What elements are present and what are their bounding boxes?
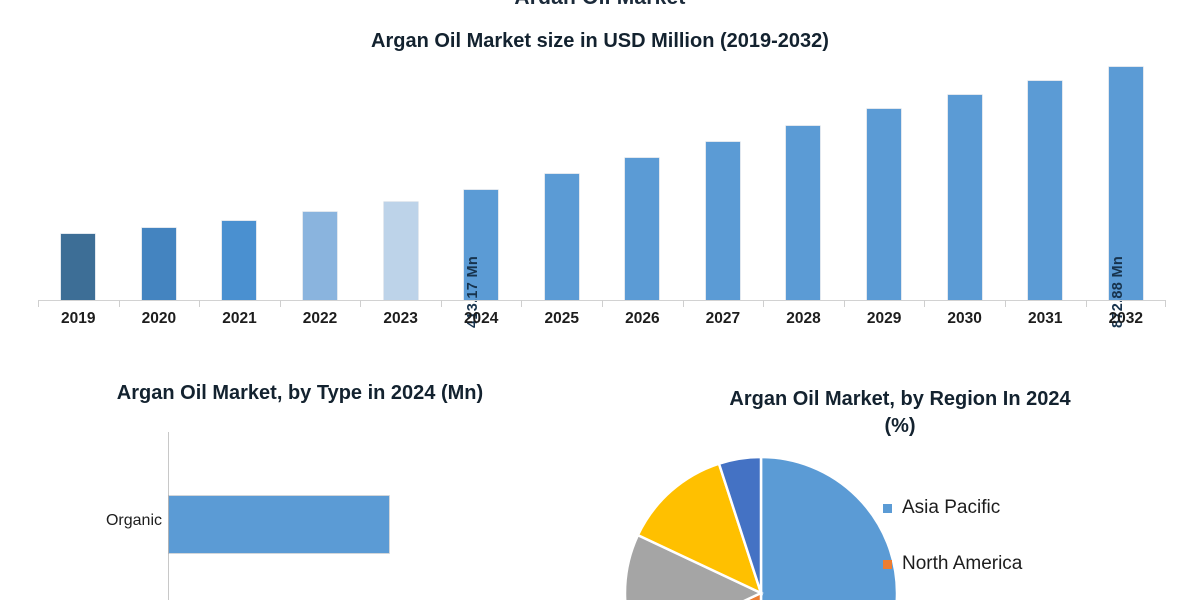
bar-slot: 413.17 Mn [441,54,522,300]
tick-2020 [119,300,200,307]
bar-slot [763,54,844,300]
x-axis-label-2026: 2026 [602,310,683,328]
bar-2024: 413.17 Mn [464,190,498,300]
bar-slot [360,54,441,300]
x-axis-label-2027: 2027 [683,310,764,328]
tick-2030 [924,300,1005,307]
main-chart-x-axis-labels: 2019202020212022202320242025202620272028… [38,310,1166,328]
bar-slot [683,54,764,300]
market-report-infographic: Argan Oil Market Argan Oil Market size i… [0,0,1200,600]
bar-2023 [384,202,418,300]
bar-2027 [706,142,740,300]
tick-2024 [441,300,522,307]
region-chart-title: Argan Oil Market, by Region In 2024 (%) [600,386,1200,440]
bar-2032: 872.88 Mn [1109,67,1143,300]
x-axis-label-2024: 2024 [441,310,522,328]
tick-2025 [521,300,602,307]
legend-swatch-icon [883,560,892,569]
bar-2029 [867,109,901,300]
type-chart-category-label: Organic [62,512,162,530]
x-axis-label-2021: 2021 [199,310,280,328]
bar-slot [199,54,280,300]
bar-slot: 872.88 Mn [1086,54,1167,300]
region-chart-title-line1: Argan Oil Market, by Region In 2024 [729,388,1070,410]
tick-2022 [280,300,361,307]
region-pie-chart [616,448,906,600]
bar-2031 [1028,81,1062,300]
x-axis-label-2022: 2022 [280,310,361,328]
type-chart-bar-organic [169,496,389,553]
bar-slot [38,54,119,300]
tick-2021 [199,300,280,307]
bar-2020 [142,228,176,300]
legend-item-north-america[interactable]: North America [883,536,1183,592]
bar-slot [119,54,200,300]
clipped-banner-title: Argan Oil Market [0,0,1200,4]
x-axis-label-2028: 2028 [763,310,844,328]
pie-slice-asia-pacific [761,457,897,600]
legend-label: North America [902,553,1022,575]
bar-slot [602,54,683,300]
bar-2021 [222,221,256,300]
region-pie-container [600,448,920,600]
type-chart-plot-area: Organic [0,422,600,600]
tick-2027 [683,300,764,307]
bar-slot [844,54,925,300]
x-axis-label-2025: 2025 [521,310,602,328]
bar-2025 [545,174,579,300]
market-by-region-chart: Argan Oil Market, by Region In 2024 (%) … [600,380,1200,600]
legend-item-europe[interactable]: Europe [883,592,1183,600]
bar-slot [521,54,602,300]
bar-2022 [303,212,337,300]
x-axis-label-2020: 2020 [119,310,200,328]
main-chart-tick-marks [38,300,1166,307]
region-chart-legend: Asia PacificNorth AmericaEurope [883,480,1183,600]
type-chart-title: Argan Oil Market, by Type in 2024 (Mn) [0,382,600,405]
bar-2026 [625,158,659,300]
x-axis-label-2032: 2032 [1086,310,1167,328]
tick-2031 [1005,300,1086,307]
tick-2029 [844,300,925,307]
tick-2019 [38,300,119,307]
tick-2028 [763,300,844,307]
bar-2019 [61,234,95,300]
x-axis-label-2023: 2023 [360,310,441,328]
legend-swatch-icon [883,504,892,513]
market-by-type-chart: Argan Oil Market, by Type in 2024 (Mn) O… [0,372,600,600]
x-axis-label-2030: 2030 [924,310,1005,328]
tick-2026 [602,300,683,307]
bar-slot [280,54,361,300]
main-chart-bars: 413.17 Mn872.88 Mn [38,54,1166,300]
legend-label: Asia Pacific [902,497,1000,519]
tick-2023 [360,300,441,307]
bar-2028 [786,126,820,300]
bar-slot [924,54,1005,300]
market-size-bar-chart: Argan Oil Market size in USD Million (20… [0,16,1200,346]
bar-slot [1005,54,1086,300]
main-chart-plot-area: 413.17 Mn872.88 Mn [38,54,1166,300]
legend-item-asia-pacific[interactable]: Asia Pacific [883,480,1183,536]
bar-2030 [948,95,982,300]
region-chart-title-line2: (%) [884,415,915,437]
x-axis-label-2029: 2029 [844,310,925,328]
tick-2032 [1086,300,1167,307]
main-chart-title: Argan Oil Market size in USD Million (20… [0,30,1200,53]
x-axis-label-2031: 2031 [1005,310,1086,328]
x-axis-label-2019: 2019 [38,310,119,328]
